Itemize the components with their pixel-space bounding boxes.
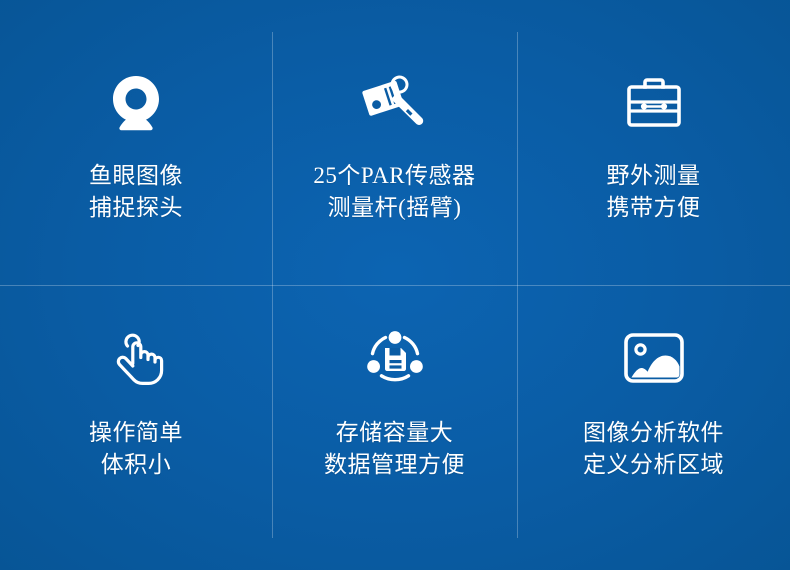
feature-caption-3: 野外测量 携带方便	[607, 160, 701, 224]
image-picture-icon	[618, 327, 690, 389]
caption-line-1: 25个PAR传感器	[313, 160, 475, 192]
feature-caption-2: 25个PAR传感器 测量杆(摇臂)	[313, 160, 475, 224]
feature-cell-1: 鱼眼图像 捕捉探头	[0, 0, 272, 285]
caption-line-1: 鱼眼图像	[89, 160, 183, 192]
data-storage-network-icon	[359, 327, 431, 389]
feature-cell-6: 图像分析软件 定义分析区域	[517, 285, 790, 570]
caption-line-2: 携带方便	[607, 192, 701, 224]
tap-hand-icon	[100, 327, 172, 389]
feature-caption-1: 鱼眼图像 捕捉探头	[89, 160, 183, 224]
toolbox-icon	[618, 72, 690, 134]
feature-grid: 鱼眼图像 捕捉探头	[0, 0, 790, 570]
feature-highlights-panel: 鱼眼图像 捕捉探头	[0, 0, 790, 570]
par-sensor-rod-icon	[359, 72, 431, 134]
caption-line-2: 定义分析区域	[583, 449, 724, 481]
webcam-icon	[100, 72, 172, 134]
caption-line-2: 捕捉探头	[89, 192, 183, 224]
feature-cell-5: 存储容量大 数据管理方便	[272, 285, 517, 570]
feature-caption-4: 操作简单 体积小	[89, 417, 183, 481]
caption-line-1: 野外测量	[607, 160, 701, 192]
caption-line-2: 体积小	[89, 449, 183, 481]
feature-caption-6: 图像分析软件 定义分析区域	[583, 417, 724, 481]
feature-caption-5: 存储容量大 数据管理方便	[324, 417, 465, 481]
caption-line-2: 数据管理方便	[324, 449, 465, 481]
caption-line-2: 测量杆(摇臂)	[313, 192, 475, 224]
feature-cell-2: 25个PAR传感器 测量杆(摇臂)	[272, 0, 517, 285]
caption-line-1: 图像分析软件	[583, 417, 724, 449]
feature-cell-4: 操作简单 体积小	[0, 285, 272, 570]
caption-line-1: 操作简单	[89, 417, 183, 449]
feature-cell-3: 野外测量 携带方便	[517, 0, 790, 285]
caption-line-1: 存储容量大	[324, 417, 465, 449]
